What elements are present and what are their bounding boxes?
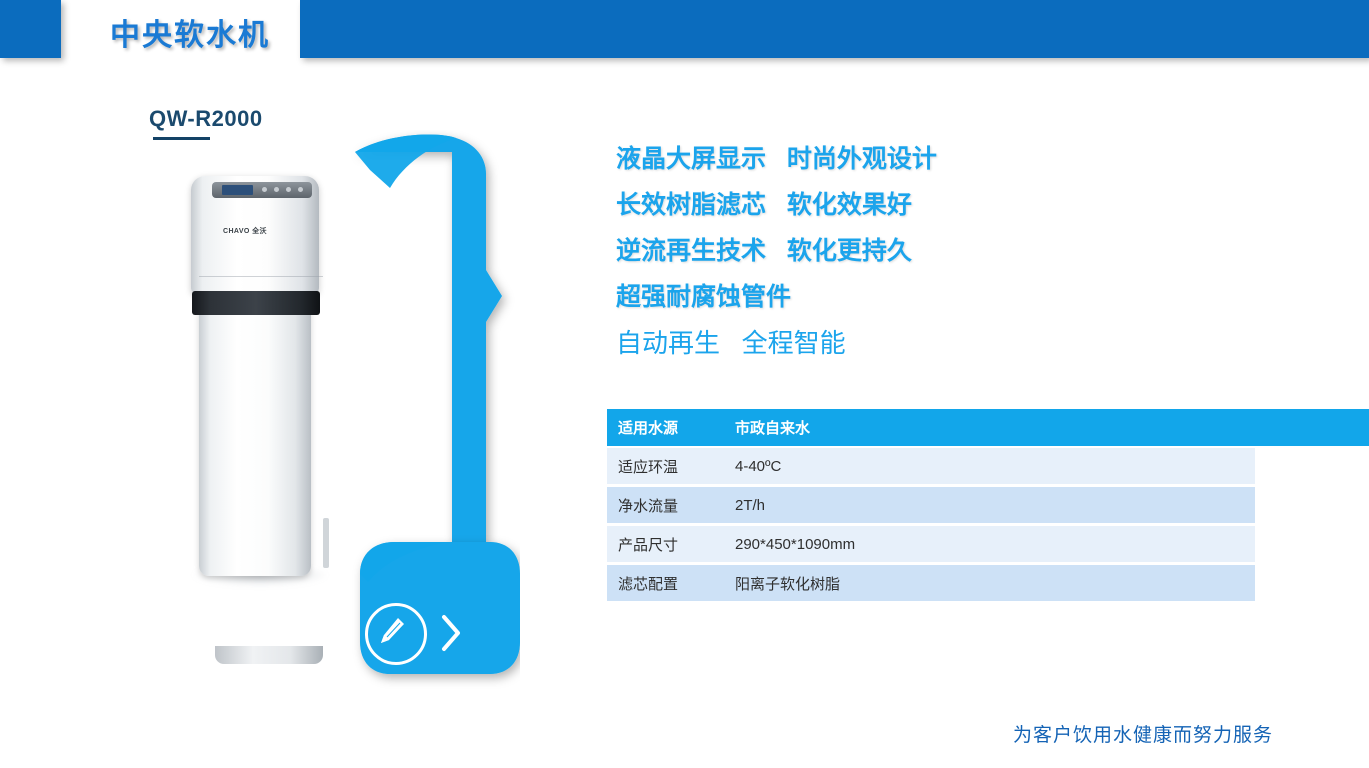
table-cell-value: 阳离子软化树脂	[735, 573, 1255, 594]
product-model-name: QW-R2000	[149, 106, 263, 132]
model-name-underline	[153, 137, 210, 140]
header-bar-left	[0, 0, 61, 58]
product-black-band	[192, 291, 320, 315]
pencil-icon	[378, 616, 406, 646]
product-image: CHAVO 全沃	[185, 168, 335, 598]
page-header: 中央软水机	[0, 0, 1369, 70]
product-brand-label: CHAVO 全沃	[223, 226, 267, 236]
table-cell-label: 净水流量	[607, 495, 735, 516]
feature-list: 液晶大屏显示 时尚外观设计 长效树脂滤芯 软化效果好 逆流再生技术 软化更持久 …	[616, 136, 1236, 366]
header-bar-right	[300, 0, 1369, 58]
feature-item-4: 超强耐腐蚀管件	[616, 274, 1236, 320]
product-base	[215, 646, 323, 664]
table-row: 适应环温 4-40ºC	[607, 448, 1255, 484]
page-title: 中央软水机	[110, 10, 270, 54]
product-head-seam	[199, 276, 323, 277]
product-side-vent	[323, 518, 329, 568]
feature-item-5: 自动再生 全程智能	[616, 320, 1236, 366]
table-cell-label: 适应环温	[607, 456, 735, 477]
table-header-label: 适用水源	[607, 417, 735, 438]
feature-item-1: 液晶大屏显示 时尚外观设计	[616, 136, 1236, 182]
feature-item-2: 长效树脂滤芯 软化效果好	[616, 182, 1236, 228]
table-cell-label: 产品尺寸	[607, 534, 735, 555]
feature-item-3: 逆流再生技术 软化更持久	[616, 228, 1236, 274]
product-control-panel	[212, 182, 312, 198]
chevron-right-icon[interactable]	[440, 613, 462, 653]
table-row: 净水流量 2T/h	[607, 487, 1255, 523]
table-cell-label: 滤芯配置	[607, 573, 735, 594]
product-button-1	[262, 187, 267, 192]
table-cell-value: 2T/h	[735, 497, 1255, 514]
specification-table: 适用水源 市政自来水 进水压力 0.1-0.4mpa 适应环温 4-40ºC 净…	[607, 409, 1255, 604]
footer-slogan: 为客户饮用水健康而努力服务	[1013, 720, 1273, 747]
table-cell-value: 4-40ºC	[735, 458, 1255, 475]
product-head-unit: CHAVO 全沃	[191, 176, 319, 294]
table-row: 滤芯配置 阳离子软化树脂	[607, 565, 1255, 601]
product-button-4	[298, 187, 303, 192]
table-header-value: 市政自来水	[735, 417, 1369, 438]
product-button-3	[286, 187, 291, 192]
table-cell-value: 290*450*1090mm	[735, 536, 1255, 553]
table-header-row: 适用水源 市政自来水	[607, 409, 1369, 446]
product-lcd-display	[222, 185, 253, 195]
ribbon-badge-icons	[360, 600, 490, 670]
table-row: 产品尺寸 290*450*1090mm	[607, 526, 1255, 562]
product-button-2	[274, 187, 279, 192]
